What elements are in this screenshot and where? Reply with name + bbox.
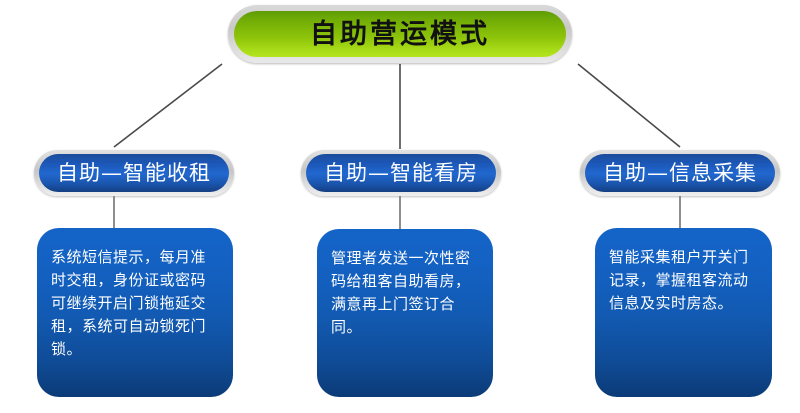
connector-line-right [578,64,680,147]
branch-node-1-label: 自助—智能收租 [57,163,211,184]
branch-node-2[interactable]: 自助—智能看房 [301,150,501,196]
branch-body-1: 系统短信提示，每月准时交租，身份证或密码可继续开启门锁拖延交租，系统可自动锁死门… [37,228,233,397]
stub-line-1 [113,196,115,229]
branch-body-2: 管理者发送一次性密码给租客自助看房，满意再上门签订合同。 [317,229,493,397]
branch-body-3-text: 智能采集租户开关门记录，掌握租客流动信息及实时房态。 [609,246,758,315]
connector-line-left [114,64,222,147]
branch-node-2-inner: 自助—智能看房 [306,154,496,192]
branch-node-3-label: 自助—信息采集 [603,163,757,184]
branch-node-1-inner: 自助—智能收租 [39,154,229,192]
branch-body-3: 智能采集租户开关门记录，掌握租客流动信息及实时房态。 [595,228,772,397]
title-pill: 自助营运模式 [228,5,572,63]
branch-node-3[interactable]: 自助—信息采集 [580,150,780,196]
branch-body-2-text: 管理者发送一次性密码给租客自助看房，满意再上门签订合同。 [331,247,479,339]
diagram-canvas: 自助营运模式 自助—智能收租 系统短信提示，每月准时交租，身份证或密码可继续开启… [0,0,800,413]
stub-line-2 [399,196,401,229]
stub-line-3 [679,196,681,228]
branch-node-2-label: 自助—智能看房 [324,163,478,184]
page-title: 自助营运模式 [310,21,490,48]
branch-body-1-text: 系统短信提示，每月准时交租，身份证或密码可继续开启门锁拖延交租，系统可自动锁死门… [51,246,219,361]
branch-node-1[interactable]: 自助—智能收租 [34,150,234,196]
branch-node-3-inner: 自助—信息采集 [585,154,775,192]
title-pill-inner: 自助营运模式 [234,11,566,57]
